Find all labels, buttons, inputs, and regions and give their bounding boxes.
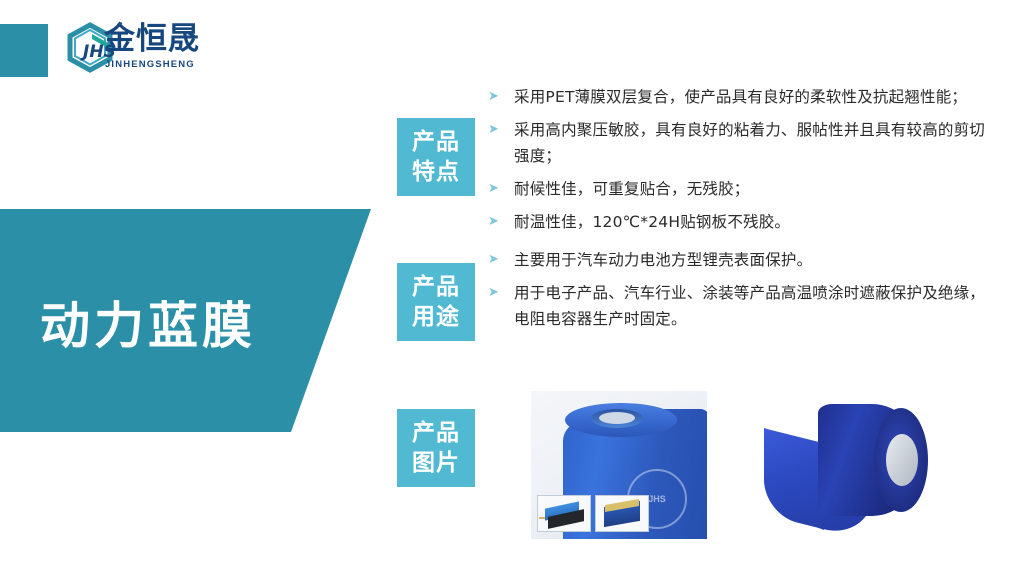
list-item-text: 耐温性佳，120℃*24H贴钢板不残胶。 xyxy=(514,209,998,235)
arrow-bullet-icon: ➤ xyxy=(488,280,514,306)
list-item-text: 采用PET薄膜双层复合，使产品具有良好的柔软性及抗起翘性能； xyxy=(514,84,998,110)
list-item: ➤ 耐候性佳，可重复贴合，无残胶； xyxy=(488,176,998,202)
list-item-text: 耐候性佳，可重复贴合，无残胶； xyxy=(514,176,998,202)
list-item-text: 用于电子产品、汽车行业、涂装等产品高温喷涂时遮蔽保护及绝缘，电阻电容器生产时固定… xyxy=(514,280,998,332)
list-item: ➤ 主要用于汽车动力电池方型锂壳表面保护。 xyxy=(488,247,998,273)
list-item: ➤ 用于电子产品、汽车行业、涂装等产品高温喷涂时遮蔽保护及绝缘，电阻电容器生产时… xyxy=(488,280,998,332)
brand-name-cn: 金恒晟 xyxy=(104,22,200,56)
list-item: ➤ 采用高内聚压敏胶，具有良好的粘着力、服帖性并且具有较高的剪切强度； xyxy=(488,117,998,169)
logo-accent-block xyxy=(0,24,48,77)
inset-photo-battery-module xyxy=(595,495,649,532)
arrow-bullet-icon: ➤ xyxy=(488,176,514,202)
chip-label-line2: 用途 xyxy=(412,302,460,332)
arrow-bullet-icon: ➤ xyxy=(488,117,514,143)
list-item: ➤ 耐温性佳，120℃*24H贴钢板不残胶。 xyxy=(488,209,998,235)
page-title: 动力蓝膜 xyxy=(40,297,256,355)
section-chip-product-images: 产品 图片 xyxy=(397,409,475,487)
brand-name-en: JINHENGSHENG xyxy=(105,59,195,70)
list-item: ➤ 采用PET薄膜双层复合，使产品具有良好的柔软性及抗起翘性能； xyxy=(488,84,998,110)
inset-photo-battery-pack xyxy=(537,495,591,532)
film-roll-core-inner xyxy=(599,412,635,424)
product-uses-list: ➤ 主要用于汽车动力电池方型锂壳表面保护。 ➤ 用于电子产品、汽车行业、涂装等产… xyxy=(488,247,998,339)
list-item-text: 采用高内聚压敏胶，具有良好的粘着力、服帖性并且具有较高的剪切强度； xyxy=(514,117,998,169)
arrow-bullet-icon: ➤ xyxy=(488,209,514,235)
chip-label-line1: 产品 xyxy=(412,127,460,157)
brand-wordmark: 金恒晟 JINHENGSHENG xyxy=(104,22,224,77)
chip-label-line1: 产品 xyxy=(412,418,460,448)
section-chip-product-uses: 产品 用途 xyxy=(397,263,475,341)
chip-label-line2: 图片 xyxy=(412,448,460,478)
list-item-text: 主要用于汽车动力电池方型锂壳表面保护。 xyxy=(514,247,998,273)
chip-label-line2: 特点 xyxy=(412,157,460,187)
tape-roll-core xyxy=(886,434,918,486)
arrow-bullet-icon: ➤ xyxy=(488,84,514,110)
inset-photo-strip xyxy=(537,495,649,532)
product-photo-tape-roll xyxy=(762,396,936,536)
product-features-list: ➤ 采用PET薄膜双层复合，使产品具有良好的柔软性及抗起翘性能； ➤ 采用高内聚… xyxy=(488,84,998,242)
section-chip-product-features: 产品 特点 xyxy=(397,118,475,196)
page-title-banner: 动力蓝膜 xyxy=(0,205,380,435)
arrow-bullet-icon: ➤ xyxy=(488,247,514,273)
product-photo-film-roll: JHS xyxy=(531,391,707,539)
chip-label-line1: 产品 xyxy=(412,272,460,302)
